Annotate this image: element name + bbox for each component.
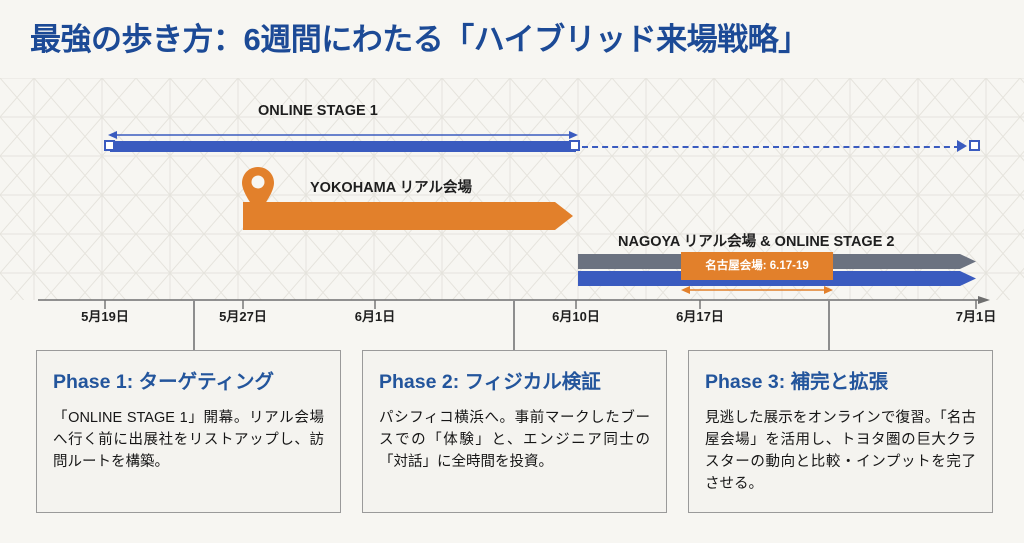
yokohama-venue-bar bbox=[243, 202, 573, 230]
connector-line-phase-2 bbox=[513, 300, 515, 350]
phase-card-1[interactable]: Phase 1: ターゲティング 「ONLINE STAGE 1」開幕。リアル会… bbox=[36, 350, 341, 513]
axis-tick-2: 6月1日 bbox=[355, 306, 395, 325]
phase-2-body: パシフィコ横浜へ。事前マークしたブースでの「体験」と、エンジニア同士の「対話」に… bbox=[379, 407, 650, 473]
track-label-nagoya: NAGOYA リアル会場 & ONLINE STAGE 2 bbox=[618, 230, 894, 251]
online-stage-1-dash-end-handle[interactable] bbox=[969, 140, 980, 151]
phase-card-2[interactable]: Phase 2: フィジカル検証 パシフィコ横浜へ。事前マークしたブースでの「体… bbox=[362, 350, 667, 513]
nagoya-venue-date-badge: 名古屋会場: 6.17-19 bbox=[681, 252, 833, 280]
nagoya-venue-measure-arrow bbox=[681, 284, 833, 296]
online-stage-1-end-handle[interactable] bbox=[569, 140, 580, 151]
online-stage-1-dash-arrowhead bbox=[957, 140, 967, 152]
axis-tick-3: 6月10日 bbox=[552, 306, 600, 325]
axis-tick-5: 7月1日 bbox=[956, 306, 996, 325]
phase-3-body: 見逃した展示をオンラインで復習。「名古屋会場」を活用し、トヨタ圏の巨大クラスター… bbox=[705, 407, 976, 495]
phase-1-title: Phase 1: ターゲティング bbox=[53, 365, 324, 394]
phase-2-title: Phase 2: フィジカル検証 bbox=[379, 365, 650, 394]
phase-3-title: Phase 3: 補完と拡張 bbox=[705, 365, 976, 394]
online-stage-1-measure-arrow bbox=[108, 129, 578, 141]
axis-tick-4: 6月17日 bbox=[676, 306, 724, 325]
track-label-yokohama: YOKOHAMA リアル会場 bbox=[310, 176, 472, 197]
online-stage-1-bar bbox=[110, 141, 576, 152]
infographic-page: 最強の歩き方：6週間にわたる「ハイブリッド来場戦略」 ONLINE STAGE … bbox=[0, 0, 1024, 543]
axis-tick-1: 5月27日 bbox=[219, 306, 267, 325]
phase-1-body: 「ONLINE STAGE 1」開幕。リアル会場へ行く前に出展社をリストアップし… bbox=[53, 407, 324, 473]
track-label-online-stage-1: ONLINE STAGE 1 bbox=[258, 103, 378, 119]
online-stage-1-start-handle[interactable] bbox=[104, 140, 115, 151]
connector-line-phase-1 bbox=[193, 300, 195, 350]
online-stage-1-dashed-extension bbox=[582, 146, 960, 148]
phase-card-3[interactable]: Phase 3: 補完と拡張 見逃した展示をオンラインで復習。「名古屋会場」を活… bbox=[688, 350, 993, 513]
page-title: 最強の歩き方：6週間にわたる「ハイブリッド来場戦略」 bbox=[30, 18, 990, 66]
connector-line-phase-3 bbox=[828, 300, 830, 350]
timeline-chart: ONLINE STAGE 1 YOKOHAMA リアル会場 NAGOYA リアル… bbox=[0, 78, 1024, 338]
axis-tick-0: 5月19日 bbox=[81, 306, 129, 325]
